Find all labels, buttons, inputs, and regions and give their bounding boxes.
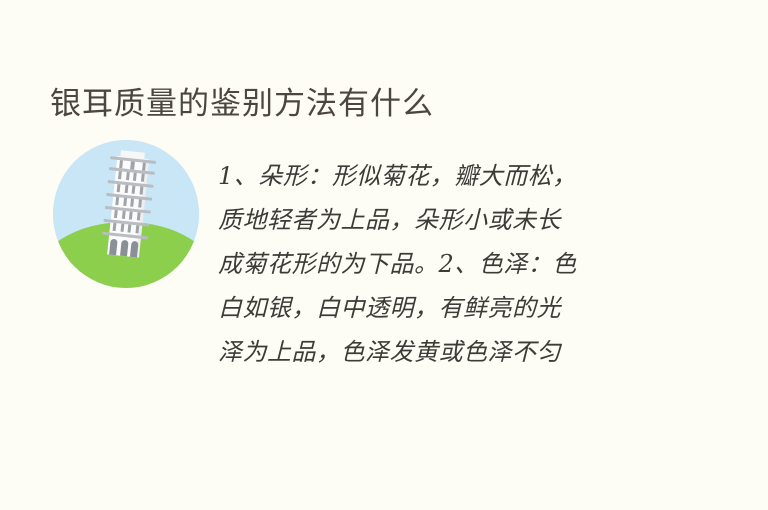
body-line: 白如银，白中透明，有鲜亮的光 xyxy=(218,286,658,330)
tower-base-arches xyxy=(109,239,139,258)
article-content-row: 1、朵形：形似菊花，瓣大而松， 质地轻者为上品，朵形小或未长 成菊花形的为下品。… xyxy=(0,138,768,398)
article-body: 1、朵形：形似菊花，瓣大而松， 质地轻者为上品，朵形小或未长 成菊花形的为下品。… xyxy=(218,154,658,374)
body-line: 质地轻者为上品，朵形小或未长 xyxy=(218,198,658,242)
body-line: 1、朵形：形似菊花，瓣大而松， xyxy=(218,154,658,198)
body-line: 泽为上品，色泽发黄或色泽不匀 xyxy=(218,330,658,374)
article-page: 银耳质量的鉴别方法有什么 xyxy=(0,0,768,510)
body-line: 成菊花形的为下品。2、色泽：色 xyxy=(218,242,658,286)
page-title: 银耳质量的鉴别方法有什么 xyxy=(50,83,730,125)
leaning-tower-of-pisa-icon xyxy=(53,140,199,288)
